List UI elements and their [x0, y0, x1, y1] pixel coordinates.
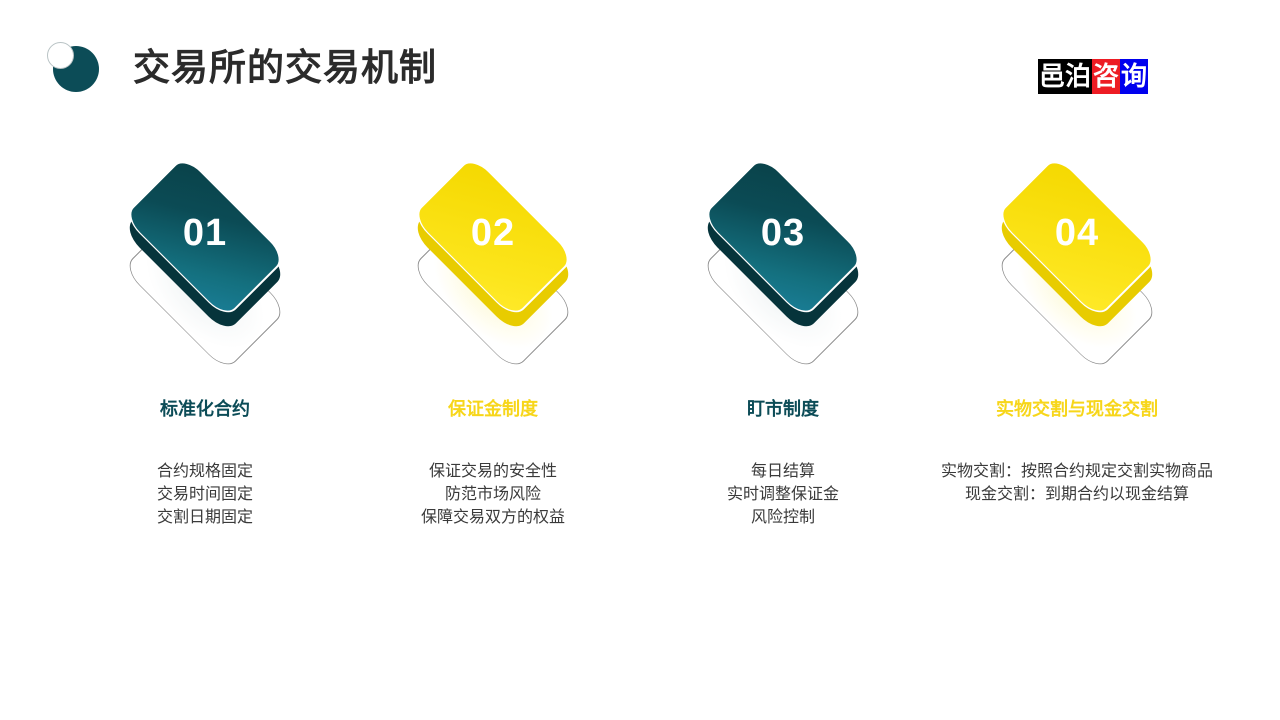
card-title: 标准化合约	[60, 396, 350, 422]
diamond-stack-03: 03	[668, 160, 898, 365]
brand-circle-notch	[47, 42, 74, 69]
card-body: 每日结算 实时调整保证金 风险控制	[638, 460, 928, 529]
corporate-logo-part1: 邑泊	[1038, 59, 1092, 94]
diamond-card[interactable]: 01 标准化合约 合约规格固定 交易时间固定 交割日期固定	[60, 160, 350, 580]
card-body-line: 保障交易双方的权益	[348, 506, 638, 529]
diamond-stack-02: 02	[378, 160, 608, 365]
slide-header: 交易所的交易机制 邑泊 咨 询	[0, 0, 1280, 130]
card-body: 保证交易的安全性 防范市场风险 保障交易双方的权益	[348, 460, 638, 529]
diamond-stack-01: 01	[90, 160, 320, 365]
card-body-line: 合约规格固定	[60, 460, 350, 483]
card-title: 盯市制度	[638, 396, 928, 422]
diamond-card[interactable]: 03 盯市制度 每日结算 实时调整保证金 风险控制	[638, 160, 928, 580]
corporate-logo-part3: 询	[1120, 59, 1148, 94]
corporate-logo-part2: 咨	[1092, 59, 1120, 94]
card-body-line: 交易时间固定	[60, 483, 350, 506]
card-body-line: 每日结算	[638, 460, 928, 483]
card-title: 实物交割与现金交割	[932, 396, 1222, 422]
card-body-line: 保证交易的安全性	[348, 460, 638, 483]
card-body: 合约规格固定 交易时间固定 交割日期固定	[60, 460, 350, 529]
card-body-line: 实物交割：按照合约规定交割实物商品	[938, 460, 1216, 483]
card-body-line: 防范市场风险	[348, 483, 638, 506]
diamond-card[interactable]: 02 保证金制度 保证交易的安全性 防范市场风险 保障交易双方的权益	[348, 160, 638, 580]
card-body-line: 实时调整保证金	[638, 483, 928, 506]
brand-circle-icon	[47, 42, 99, 94]
card-title: 保证金制度	[348, 396, 638, 422]
card-body-line: 交割日期固定	[60, 506, 350, 529]
corporate-logo: 邑泊 咨 询	[1038, 59, 1148, 94]
card-body-line: 现金交割：到期合约以现金结算	[938, 483, 1216, 506]
card-body: 实物交割：按照合约规定交割实物商品 现金交割：到期合约以现金结算	[932, 460, 1222, 506]
card-body-line: 风险控制	[638, 506, 928, 529]
diamond-card-row: 01 标准化合约 合约规格固定 交易时间固定 交割日期固定 02 保证金制度 保…	[0, 160, 1280, 580]
diamond-stack-04: 04	[962, 160, 1192, 365]
page-title: 交易所的交易机制	[133, 45, 437, 91]
diamond-card[interactable]: 04 实物交割与现金交割 实物交割：按照合约规定交割实物商品 现金交割：到期合约…	[932, 160, 1222, 580]
